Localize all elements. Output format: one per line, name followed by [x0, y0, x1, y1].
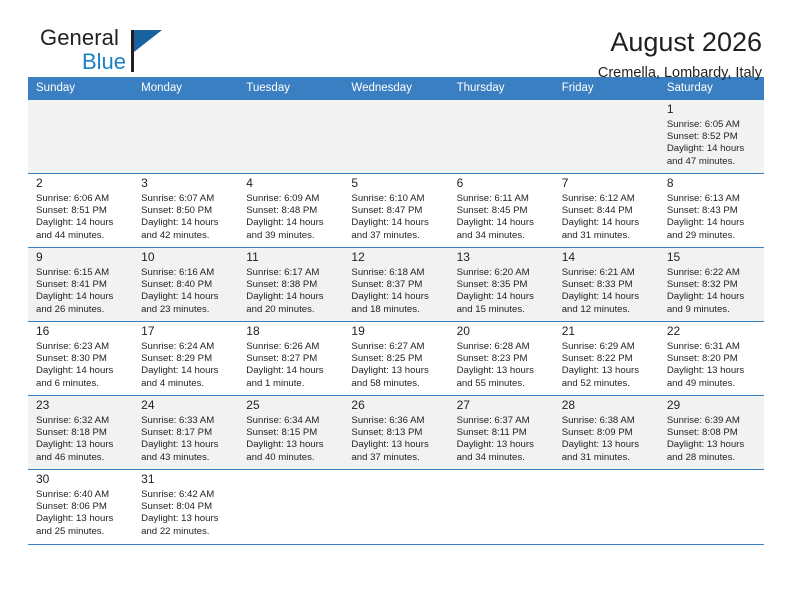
day-daylight1-text: Daylight: 14 hours: [246, 217, 336, 229]
day-daylight1-text: Daylight: 14 hours: [667, 291, 757, 303]
day-number: 6: [457, 176, 547, 193]
day-daylight1-text: Daylight: 14 hours: [141, 217, 231, 229]
calendar-day-cell[interactable]: 2Sunrise: 6:06 AMSunset: 8:51 PMDaylight…: [28, 174, 133, 248]
calendar-week-row: 16Sunrise: 6:23 AMSunset: 8:30 PMDayligh…: [28, 322, 764, 396]
day-number: 7: [562, 176, 652, 193]
day-cell-content: 21Sunrise: 6:29 AMSunset: 8:22 PMDayligh…: [554, 322, 659, 390]
calendar-day-cell[interactable]: 8Sunrise: 6:13 AMSunset: 8:43 PMDaylight…: [659, 174, 764, 248]
day-daylight1-text: Daylight: 13 hours: [246, 439, 336, 451]
day-sun-info: Sunrise: 6:10 AMSunset: 8:47 PMDaylight:…: [351, 193, 441, 242]
day-cell-content: 9Sunrise: 6:15 AMSunset: 8:41 PMDaylight…: [28, 248, 133, 316]
day-cell-content: 24Sunrise: 6:33 AMSunset: 8:17 PMDayligh…: [133, 396, 238, 464]
day-number: 19: [351, 324, 441, 341]
calendar-empty-cell: [449, 470, 554, 544]
day-daylight2-text: and 12 minutes.: [562, 304, 652, 316]
day-cell-content: 27Sunrise: 6:37 AMSunset: 8:11 PMDayligh…: [449, 396, 554, 464]
brand-logo[interactable]: General Blue: [28, 26, 218, 78]
day-daylight1-text: Daylight: 13 hours: [36, 439, 126, 451]
day-number: 1: [667, 102, 757, 119]
day-cell-content: 30Sunrise: 6:40 AMSunset: 8:06 PMDayligh…: [28, 470, 133, 538]
day-sunset-text: Sunset: 8:13 PM: [351, 427, 441, 439]
day-sun-info: Sunrise: 6:11 AMSunset: 8:45 PMDaylight:…: [457, 193, 547, 242]
day-daylight2-text: and 39 minutes.: [246, 230, 336, 242]
day-sun-info: Sunrise: 6:09 AMSunset: 8:48 PMDaylight:…: [246, 193, 336, 242]
day-sun-info: Sunrise: 6:12 AMSunset: 8:44 PMDaylight:…: [562, 193, 652, 242]
calendar-empty-cell: [133, 100, 238, 174]
day-daylight1-text: Daylight: 14 hours: [351, 217, 441, 229]
day-daylight1-text: Daylight: 14 hours: [246, 365, 336, 377]
calendar-bottom-rule: [28, 544, 764, 545]
day-number: 10: [141, 250, 231, 267]
day-daylight2-text: and 34 minutes.: [457, 452, 547, 464]
day-sunrise-text: Sunrise: 6:38 AM: [562, 415, 652, 427]
day-daylight2-text: and 43 minutes.: [141, 452, 231, 464]
day-sun-info: Sunrise: 6:33 AMSunset: 8:17 PMDaylight:…: [141, 415, 231, 464]
calendar-day-cell[interactable]: 9Sunrise: 6:15 AMSunset: 8:41 PMDaylight…: [28, 248, 133, 322]
day-daylight1-text: Daylight: 14 hours: [667, 143, 757, 155]
day-sunrise-text: Sunrise: 6:34 AM: [246, 415, 336, 427]
day-sunset-text: Sunset: 8:45 PM: [457, 205, 547, 217]
calendar-day-cell[interactable]: 21Sunrise: 6:29 AMSunset: 8:22 PMDayligh…: [554, 322, 659, 396]
day-daylight1-text: Daylight: 13 hours: [351, 365, 441, 377]
day-sunset-text: Sunset: 8:47 PM: [351, 205, 441, 217]
day-daylight2-text: and 23 minutes.: [141, 304, 231, 316]
day-daylight2-text: and 52 minutes.: [562, 378, 652, 390]
day-sun-info: Sunrise: 6:18 AMSunset: 8:37 PMDaylight:…: [351, 267, 441, 316]
day-sunrise-text: Sunrise: 6:33 AM: [141, 415, 231, 427]
day-sun-info: Sunrise: 6:40 AMSunset: 8:06 PMDaylight:…: [36, 489, 126, 538]
day-sunset-text: Sunset: 8:25 PM: [351, 353, 441, 365]
calendar-day-cell[interactable]: 3Sunrise: 6:07 AMSunset: 8:50 PMDaylight…: [133, 174, 238, 248]
calendar-day-cell[interactable]: 20Sunrise: 6:28 AMSunset: 8:23 PMDayligh…: [449, 322, 554, 396]
day-daylight1-text: Daylight: 13 hours: [667, 439, 757, 451]
day-sunrise-text: Sunrise: 6:15 AM: [36, 267, 126, 279]
calendar-day-cell[interactable]: 28Sunrise: 6:38 AMSunset: 8:09 PMDayligh…: [554, 396, 659, 470]
day-sunrise-text: Sunrise: 6:20 AM: [457, 267, 547, 279]
day-daylight1-text: Daylight: 14 hours: [351, 291, 441, 303]
day-cell-content: 15Sunrise: 6:22 AMSunset: 8:32 PMDayligh…: [659, 248, 764, 316]
calendar-day-cell[interactable]: 22Sunrise: 6:31 AMSunset: 8:20 PMDayligh…: [659, 322, 764, 396]
day-sunset-text: Sunset: 8:32 PM: [667, 279, 757, 291]
calendar-empty-cell: [659, 470, 764, 544]
calendar-day-cell[interactable]: 27Sunrise: 6:37 AMSunset: 8:11 PMDayligh…: [449, 396, 554, 470]
day-sunset-text: Sunset: 8:52 PM: [667, 131, 757, 143]
day-sunset-text: Sunset: 8:44 PM: [562, 205, 652, 217]
day-sun-info: Sunrise: 6:05 AMSunset: 8:52 PMDaylight:…: [667, 119, 757, 168]
day-daylight2-text: and 37 minutes.: [351, 452, 441, 464]
day-daylight2-text: and 4 minutes.: [141, 378, 231, 390]
day-daylight1-text: Daylight: 13 hours: [36, 513, 126, 525]
day-daylight2-text: and 15 minutes.: [457, 304, 547, 316]
day-number: 8: [667, 176, 757, 193]
calendar-day-cell[interactable]: 16Sunrise: 6:23 AMSunset: 8:30 PMDayligh…: [28, 322, 133, 396]
day-sunset-text: Sunset: 8:30 PM: [36, 353, 126, 365]
flag-triangle-icon: [134, 30, 162, 52]
day-sunrise-text: Sunrise: 6:36 AM: [351, 415, 441, 427]
day-sunset-text: Sunset: 8:48 PM: [246, 205, 336, 217]
calendar-empty-cell: [343, 100, 448, 174]
day-sunset-text: Sunset: 8:38 PM: [246, 279, 336, 291]
day-daylight1-text: Daylight: 13 hours: [141, 439, 231, 451]
calendar-day-cell[interactable]: 10Sunrise: 6:16 AMSunset: 8:40 PMDayligh…: [133, 248, 238, 322]
calendar-day-cell[interactable]: 4Sunrise: 6:09 AMSunset: 8:48 PMDaylight…: [238, 174, 343, 248]
weekday-header-sunday: Sunday: [28, 77, 133, 100]
day-daylight2-text: and 37 minutes.: [351, 230, 441, 242]
day-sunset-text: Sunset: 8:29 PM: [141, 353, 231, 365]
calendar-day-cell[interactable]: 25Sunrise: 6:34 AMSunset: 8:15 PMDayligh…: [238, 396, 343, 470]
day-sunset-text: Sunset: 8:15 PM: [246, 427, 336, 439]
day-sunset-text: Sunset: 8:04 PM: [141, 501, 231, 513]
day-sunrise-text: Sunrise: 6:10 AM: [351, 193, 441, 205]
calendar-day-cell[interactable]: 7Sunrise: 6:12 AMSunset: 8:44 PMDaylight…: [554, 174, 659, 248]
calendar-day-cell[interactable]: 31Sunrise: 6:42 AMSunset: 8:04 PMDayligh…: [133, 470, 238, 544]
day-daylight2-text: and 42 minutes.: [141, 230, 231, 242]
day-daylight1-text: Daylight: 14 hours: [141, 291, 231, 303]
day-sunrise-text: Sunrise: 6:27 AM: [351, 341, 441, 353]
day-sun-info: Sunrise: 6:34 AMSunset: 8:15 PMDaylight:…: [246, 415, 336, 464]
day-number: 4: [246, 176, 336, 193]
day-daylight2-text: and 20 minutes.: [246, 304, 336, 316]
day-daylight2-text: and 34 minutes.: [457, 230, 547, 242]
day-sunrise-text: Sunrise: 6:18 AM: [351, 267, 441, 279]
calendar-day-cell[interactable]: 5Sunrise: 6:10 AMSunset: 8:47 PMDaylight…: [343, 174, 448, 248]
day-sun-info: Sunrise: 6:21 AMSunset: 8:33 PMDaylight:…: [562, 267, 652, 316]
day-cell-content: 18Sunrise: 6:26 AMSunset: 8:27 PMDayligh…: [238, 322, 343, 390]
day-number: 22: [667, 324, 757, 341]
day-cell-content: 22Sunrise: 6:31 AMSunset: 8:20 PMDayligh…: [659, 322, 764, 390]
day-sunset-text: Sunset: 8:09 PM: [562, 427, 652, 439]
day-cell-content: 19Sunrise: 6:27 AMSunset: 8:25 PMDayligh…: [343, 322, 448, 390]
day-cell-content: 1Sunrise: 6:05 AMSunset: 8:52 PMDaylight…: [659, 100, 764, 168]
day-daylight1-text: Daylight: 13 hours: [562, 365, 652, 377]
day-number: 9: [36, 250, 126, 267]
day-number: 16: [36, 324, 126, 341]
day-daylight1-text: Daylight: 13 hours: [562, 439, 652, 451]
day-sunset-text: Sunset: 8:11 PM: [457, 427, 547, 439]
day-sun-info: Sunrise: 6:24 AMSunset: 8:29 PMDaylight:…: [141, 341, 231, 390]
calendar-day-cell[interactable]: 18Sunrise: 6:26 AMSunset: 8:27 PMDayligh…: [238, 322, 343, 396]
day-daylight2-text: and 6 minutes.: [36, 378, 126, 390]
day-daylight1-text: Daylight: 14 hours: [141, 365, 231, 377]
day-sunrise-text: Sunrise: 6:16 AM: [141, 267, 231, 279]
day-cell-content: 11Sunrise: 6:17 AMSunset: 8:38 PMDayligh…: [238, 248, 343, 316]
day-number: 17: [141, 324, 231, 341]
day-sunrise-text: Sunrise: 6:40 AM: [36, 489, 126, 501]
day-sunrise-text: Sunrise: 6:13 AM: [667, 193, 757, 205]
calendar-week-row: 23Sunrise: 6:32 AMSunset: 8:18 PMDayligh…: [28, 396, 764, 470]
weekday-header-monday: Monday: [133, 77, 238, 100]
day-daylight1-text: Daylight: 14 hours: [457, 291, 547, 303]
calendar-day-cell[interactable]: 12Sunrise: 6:18 AMSunset: 8:37 PMDayligh…: [343, 248, 448, 322]
day-number: 3: [141, 176, 231, 193]
day-sun-info: Sunrise: 6:07 AMSunset: 8:50 PMDaylight:…: [141, 193, 231, 242]
calendar-day-cell[interactable]: 11Sunrise: 6:17 AMSunset: 8:38 PMDayligh…: [238, 248, 343, 322]
calendar-day-cell[interactable]: 15Sunrise: 6:22 AMSunset: 8:32 PMDayligh…: [659, 248, 764, 322]
day-cell-content: 28Sunrise: 6:38 AMSunset: 8:09 PMDayligh…: [554, 396, 659, 464]
day-sunset-text: Sunset: 8:51 PM: [36, 205, 126, 217]
day-daylight2-text: and 25 minutes.: [36, 526, 126, 538]
day-cell-content: 13Sunrise: 6:20 AMSunset: 8:35 PMDayligh…: [449, 248, 554, 316]
day-sunrise-text: Sunrise: 6:29 AM: [562, 341, 652, 353]
day-number: 2: [36, 176, 126, 193]
day-sunset-text: Sunset: 8:50 PM: [141, 205, 231, 217]
day-cell-content: 8Sunrise: 6:13 AMSunset: 8:43 PMDaylight…: [659, 174, 764, 242]
calendar-empty-cell: [343, 470, 448, 544]
day-cell-content: 16Sunrise: 6:23 AMSunset: 8:30 PMDayligh…: [28, 322, 133, 390]
brand-name-general: General: [40, 26, 119, 50]
day-daylight2-text: and 18 minutes.: [351, 304, 441, 316]
day-cell-content: 17Sunrise: 6:24 AMSunset: 8:29 PMDayligh…: [133, 322, 238, 390]
day-sunrise-text: Sunrise: 6:06 AM: [36, 193, 126, 205]
day-sun-info: Sunrise: 6:32 AMSunset: 8:18 PMDaylight:…: [36, 415, 126, 464]
day-sunset-text: Sunset: 8:18 PM: [36, 427, 126, 439]
calendar-week-row: 2Sunrise: 6:06 AMSunset: 8:51 PMDaylight…: [28, 174, 764, 248]
day-cell-content: 12Sunrise: 6:18 AMSunset: 8:37 PMDayligh…: [343, 248, 448, 316]
day-number: 11: [246, 250, 336, 267]
title-block: August 2026 Cremella, Lombardy, Italy: [598, 26, 764, 83]
day-daylight1-text: Daylight: 14 hours: [562, 217, 652, 229]
day-number: 29: [667, 398, 757, 415]
day-daylight2-text: and 31 minutes.: [562, 452, 652, 464]
day-sun-info: Sunrise: 6:17 AMSunset: 8:38 PMDaylight:…: [246, 267, 336, 316]
day-sunrise-text: Sunrise: 6:22 AM: [667, 267, 757, 279]
day-sun-info: Sunrise: 6:28 AMSunset: 8:23 PMDaylight:…: [457, 341, 547, 390]
day-sunrise-text: Sunrise: 6:05 AM: [667, 119, 757, 131]
day-daylight2-text: and 1 minute.: [246, 378, 336, 390]
day-cell-content: 25Sunrise: 6:34 AMSunset: 8:15 PMDayligh…: [238, 396, 343, 464]
day-cell-content: 26Sunrise: 6:36 AMSunset: 8:13 PMDayligh…: [343, 396, 448, 464]
day-sunrise-text: Sunrise: 6:09 AM: [246, 193, 336, 205]
day-sunrise-text: Sunrise: 6:31 AM: [667, 341, 757, 353]
brand-name-blue: Blue: [82, 51, 218, 73]
calendar-day-cell[interactable]: 26Sunrise: 6:36 AMSunset: 8:13 PMDayligh…: [343, 396, 448, 470]
day-cell-content: 31Sunrise: 6:42 AMSunset: 8:04 PMDayligh…: [133, 470, 238, 538]
day-number: 12: [351, 250, 441, 267]
day-cell-content: 14Sunrise: 6:21 AMSunset: 8:33 PMDayligh…: [554, 248, 659, 316]
day-number: 21: [562, 324, 652, 341]
day-sunrise-text: Sunrise: 6:24 AM: [141, 341, 231, 353]
weekday-header-wednesday: Wednesday: [343, 77, 448, 100]
day-sunset-text: Sunset: 8:23 PM: [457, 353, 547, 365]
day-sunrise-text: Sunrise: 6:12 AM: [562, 193, 652, 205]
day-number: 30: [36, 472, 126, 489]
day-daylight2-text: and 26 minutes.: [36, 304, 126, 316]
day-daylight1-text: Daylight: 13 hours: [457, 365, 547, 377]
calendar-empty-cell: [28, 100, 133, 174]
day-number: 27: [457, 398, 547, 415]
calendar-week-row: 30Sunrise: 6:40 AMSunset: 8:06 PMDayligh…: [28, 470, 764, 544]
weekday-header-thursday: Thursday: [449, 77, 554, 100]
day-number: 20: [457, 324, 547, 341]
calendar-day-cell[interactable]: 19Sunrise: 6:27 AMSunset: 8:25 PMDayligh…: [343, 322, 448, 396]
day-sunset-text: Sunset: 8:20 PM: [667, 353, 757, 365]
day-number: 5: [351, 176, 441, 193]
calendar-body: 1Sunrise: 6:05 AMSunset: 8:52 PMDaylight…: [28, 100, 764, 544]
calendar-empty-cell: [238, 100, 343, 174]
day-daylight1-text: Daylight: 14 hours: [36, 291, 126, 303]
day-number: 28: [562, 398, 652, 415]
day-sunset-text: Sunset: 8:33 PM: [562, 279, 652, 291]
calendar-day-cell[interactable]: 14Sunrise: 6:21 AMSunset: 8:33 PMDayligh…: [554, 248, 659, 322]
day-cell-content: 5Sunrise: 6:10 AMSunset: 8:47 PMDaylight…: [343, 174, 448, 242]
calendar-day-cell[interactable]: 24Sunrise: 6:33 AMSunset: 8:17 PMDayligh…: [133, 396, 238, 470]
day-daylight1-text: Daylight: 14 hours: [36, 217, 126, 229]
day-daylight2-text: and 58 minutes.: [351, 378, 441, 390]
day-sunrise-text: Sunrise: 6:39 AM: [667, 415, 757, 427]
calendar-day-cell[interactable]: 6Sunrise: 6:11 AMSunset: 8:45 PMDaylight…: [449, 174, 554, 248]
day-daylight1-text: Daylight: 13 hours: [667, 365, 757, 377]
calendar-day-cell[interactable]: 30Sunrise: 6:40 AMSunset: 8:06 PMDayligh…: [28, 470, 133, 544]
day-sunrise-text: Sunrise: 6:42 AM: [141, 489, 231, 501]
day-daylight1-text: Daylight: 14 hours: [246, 291, 336, 303]
day-cell-content: 3Sunrise: 6:07 AMSunset: 8:50 PMDaylight…: [133, 174, 238, 242]
day-cell-content: 7Sunrise: 6:12 AMSunset: 8:44 PMDaylight…: [554, 174, 659, 242]
day-cell-content: 23Sunrise: 6:32 AMSunset: 8:18 PMDayligh…: [28, 396, 133, 464]
calendar-week-row: 1Sunrise: 6:05 AMSunset: 8:52 PMDaylight…: [28, 100, 764, 174]
day-sun-info: Sunrise: 6:26 AMSunset: 8:27 PMDaylight:…: [246, 341, 336, 390]
day-sun-info: Sunrise: 6:37 AMSunset: 8:11 PMDaylight:…: [457, 415, 547, 464]
day-number: 31: [141, 472, 231, 489]
day-sunset-text: Sunset: 8:22 PM: [562, 353, 652, 365]
day-number: 14: [562, 250, 652, 267]
day-daylight2-text: and 31 minutes.: [562, 230, 652, 242]
day-sun-info: Sunrise: 6:39 AMSunset: 8:08 PMDaylight:…: [667, 415, 757, 464]
day-daylight1-text: Daylight: 13 hours: [351, 439, 441, 451]
day-daylight2-text: and 46 minutes.: [36, 452, 126, 464]
calendar-table: Sunday Monday Tuesday Wednesday Thursday…: [28, 77, 764, 544]
day-sunrise-text: Sunrise: 6:26 AM: [246, 341, 336, 353]
day-daylight2-text: and 49 minutes.: [667, 378, 757, 390]
day-daylight2-text: and 40 minutes.: [246, 452, 336, 464]
day-daylight2-text: and 28 minutes.: [667, 452, 757, 464]
day-number: 13: [457, 250, 547, 267]
day-sun-info: Sunrise: 6:23 AMSunset: 8:30 PMDaylight:…: [36, 341, 126, 390]
day-daylight2-text: and 9 minutes.: [667, 304, 757, 316]
calendar-empty-cell: [238, 470, 343, 544]
day-number: 15: [667, 250, 757, 267]
day-sun-info: Sunrise: 6:38 AMSunset: 8:09 PMDaylight:…: [562, 415, 652, 464]
calendar-day-cell[interactable]: 23Sunrise: 6:32 AMSunset: 8:18 PMDayligh…: [28, 396, 133, 470]
day-number: 25: [246, 398, 336, 415]
day-sunrise-text: Sunrise: 6:28 AM: [457, 341, 547, 353]
calendar-empty-cell: [449, 100, 554, 174]
day-daylight2-text: and 22 minutes.: [141, 526, 231, 538]
day-sunrise-text: Sunrise: 6:21 AM: [562, 267, 652, 279]
weekday-header-tuesday: Tuesday: [238, 77, 343, 100]
day-sunset-text: Sunset: 8:37 PM: [351, 279, 441, 291]
page-title: August 2026: [598, 26, 762, 58]
day-sun-info: Sunrise: 6:36 AMSunset: 8:13 PMDaylight:…: [351, 415, 441, 464]
calendar-day-cell[interactable]: 13Sunrise: 6:20 AMSunset: 8:35 PMDayligh…: [449, 248, 554, 322]
day-cell-content: 29Sunrise: 6:39 AMSunset: 8:08 PMDayligh…: [659, 396, 764, 464]
day-cell-content: 20Sunrise: 6:28 AMSunset: 8:23 PMDayligh…: [449, 322, 554, 390]
day-sun-info: Sunrise: 6:13 AMSunset: 8:43 PMDaylight:…: [667, 193, 757, 242]
calendar-empty-cell: [554, 100, 659, 174]
day-daylight2-text: and 47 minutes.: [667, 156, 757, 168]
day-sunset-text: Sunset: 8:08 PM: [667, 427, 757, 439]
day-sunset-text: Sunset: 8:43 PM: [667, 205, 757, 217]
day-sun-info: Sunrise: 6:42 AMSunset: 8:04 PMDaylight:…: [141, 489, 231, 538]
day-daylight2-text: and 44 minutes.: [36, 230, 126, 242]
calendar-week-row: 9Sunrise: 6:15 AMSunset: 8:41 PMDaylight…: [28, 248, 764, 322]
day-sunrise-text: Sunrise: 6:17 AM: [246, 267, 336, 279]
day-cell-content: 6Sunrise: 6:11 AMSunset: 8:45 PMDaylight…: [449, 174, 554, 242]
day-number: 18: [246, 324, 336, 341]
day-sunrise-text: Sunrise: 6:32 AM: [36, 415, 126, 427]
day-daylight2-text: and 29 minutes.: [667, 230, 757, 242]
day-sun-info: Sunrise: 6:20 AMSunset: 8:35 PMDaylight:…: [457, 267, 547, 316]
day-number: 23: [36, 398, 126, 415]
day-sunrise-text: Sunrise: 6:11 AM: [457, 193, 547, 205]
day-daylight1-text: Daylight: 14 hours: [457, 217, 547, 229]
day-sunset-text: Sunset: 8:41 PM: [36, 279, 126, 291]
calendar-day-cell[interactable]: 29Sunrise: 6:39 AMSunset: 8:08 PMDayligh…: [659, 396, 764, 470]
day-daylight1-text: Daylight: 14 hours: [36, 365, 126, 377]
day-cell-content: 2Sunrise: 6:06 AMSunset: 8:51 PMDaylight…: [28, 174, 133, 242]
page-header: General Blue August 2026 Cremella, Lomba…: [28, 0, 764, 74]
day-sunrise-text: Sunrise: 6:37 AM: [457, 415, 547, 427]
day-sunrise-text: Sunrise: 6:23 AM: [36, 341, 126, 353]
calendar-day-cell[interactable]: 1Sunrise: 6:05 AMSunset: 8:52 PMDaylight…: [659, 100, 764, 174]
day-sunrise-text: Sunrise: 6:07 AM: [141, 193, 231, 205]
day-daylight1-text: Daylight: 13 hours: [457, 439, 547, 451]
day-cell-content: 4Sunrise: 6:09 AMSunset: 8:48 PMDaylight…: [238, 174, 343, 242]
day-sun-info: Sunrise: 6:22 AMSunset: 8:32 PMDaylight:…: [667, 267, 757, 316]
calendar-page: General Blue August 2026 Cremella, Lomba…: [0, 0, 792, 612]
calendar-empty-cell: [554, 470, 659, 544]
day-daylight1-text: Daylight: 14 hours: [667, 217, 757, 229]
calendar-day-cell[interactable]: 17Sunrise: 6:24 AMSunset: 8:29 PMDayligh…: [133, 322, 238, 396]
day-number: 24: [141, 398, 231, 415]
page-subtitle: Cremella, Lombardy, Italy: [598, 63, 762, 83]
day-daylight1-text: Daylight: 14 hours: [562, 291, 652, 303]
day-daylight1-text: Daylight: 13 hours: [141, 513, 231, 525]
day-sunset-text: Sunset: 8:17 PM: [141, 427, 231, 439]
day-sunset-text: Sunset: 8:40 PM: [141, 279, 231, 291]
day-sun-info: Sunrise: 6:15 AMSunset: 8:41 PMDaylight:…: [36, 267, 126, 316]
day-sunset-text: Sunset: 8:06 PM: [36, 501, 126, 513]
day-daylight2-text: and 55 minutes.: [457, 378, 547, 390]
day-sun-info: Sunrise: 6:29 AMSunset: 8:22 PMDaylight:…: [562, 341, 652, 390]
day-cell-content: 10Sunrise: 6:16 AMSunset: 8:40 PMDayligh…: [133, 248, 238, 316]
day-sunset-text: Sunset: 8:27 PM: [246, 353, 336, 365]
day-number: 26: [351, 398, 441, 415]
day-sun-info: Sunrise: 6:31 AMSunset: 8:20 PMDaylight:…: [667, 341, 757, 390]
day-sun-info: Sunrise: 6:16 AMSunset: 8:40 PMDaylight:…: [141, 267, 231, 316]
day-sun-info: Sunrise: 6:06 AMSunset: 8:51 PMDaylight:…: [36, 193, 126, 242]
day-sun-info: Sunrise: 6:27 AMSunset: 8:25 PMDaylight:…: [351, 341, 441, 390]
day-sunset-text: Sunset: 8:35 PM: [457, 279, 547, 291]
